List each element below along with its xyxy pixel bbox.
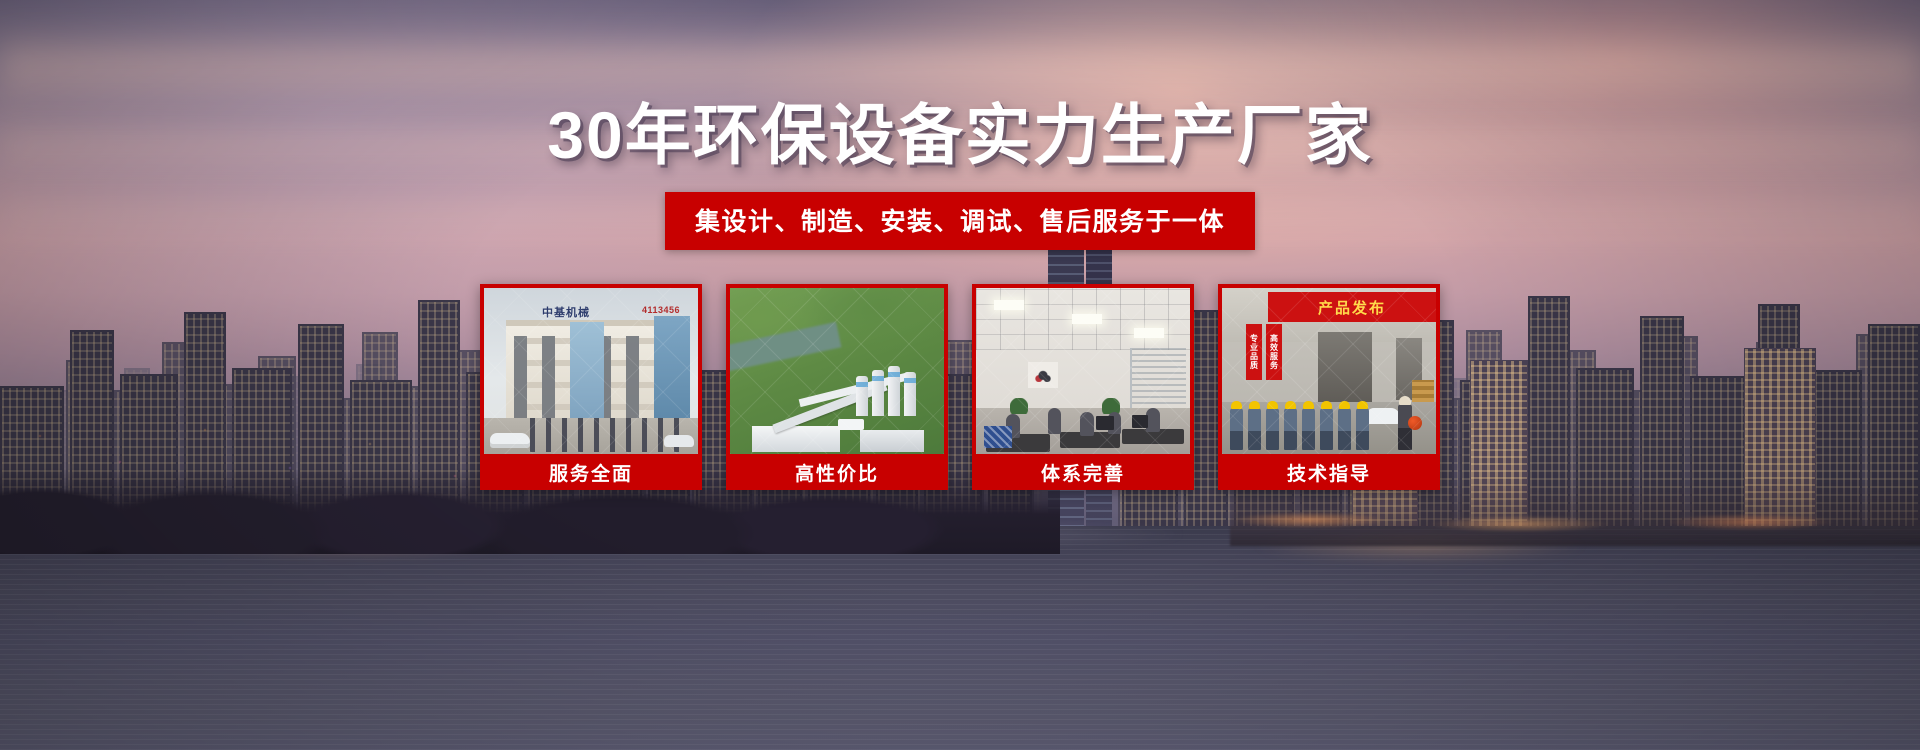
photo3-blue-bag bbox=[984, 426, 1012, 448]
feature-card-3-label: 体系完善 bbox=[976, 454, 1190, 490]
aerial-plant-photo bbox=[730, 288, 944, 454]
factory-workshop-photo: 产品发布 专业品质 高效服务 bbox=[1222, 288, 1436, 454]
photo4-worker-1 bbox=[1230, 408, 1243, 450]
photo4-worker-3 bbox=[1266, 408, 1279, 450]
photo3-window-blinds bbox=[1130, 348, 1186, 410]
photo2-silo-4 bbox=[856, 376, 868, 416]
hero-banner: 30年环保设备实力生产厂家 集设计、制造、安装、调试、售后服务于一体 中基机械 … bbox=[0, 0, 1920, 750]
photo3-plant-left bbox=[1010, 398, 1028, 414]
photo1-white-car bbox=[490, 433, 530, 448]
photo4-worker-4 bbox=[1284, 408, 1297, 450]
photo3-monitor-2 bbox=[1132, 415, 1148, 428]
feature-card-1-label: 服务全面 bbox=[484, 454, 698, 490]
photo4-vertical-banner-right: 高效服务 bbox=[1266, 324, 1282, 380]
photo4-doorway bbox=[1318, 332, 1372, 406]
photo4-vertical-banner-left: 专业品质 bbox=[1246, 324, 1262, 380]
photo3-light-panel-3 bbox=[1134, 328, 1164, 338]
photo3-person-5 bbox=[1146, 408, 1160, 432]
feature-card-2-label: 高性价比 bbox=[730, 454, 944, 490]
photo4-white-van bbox=[1366, 408, 1400, 424]
photo4-worker-5 bbox=[1302, 408, 1315, 450]
photo2-silo-3 bbox=[872, 370, 884, 416]
photo3-monitor-1 bbox=[1096, 416, 1114, 430]
photo3-light-panel-2 bbox=[1072, 314, 1102, 324]
hero-content: 30年环保设备实力生产厂家 集设计、制造、安装、调试、售后服务于一体 中基机械 … bbox=[0, 0, 1920, 750]
company-headquarters-photo: 中基机械 4113456 bbox=[484, 288, 698, 454]
photo3-light-panel-1 bbox=[994, 300, 1024, 310]
photo4-worker-7 bbox=[1338, 408, 1351, 450]
feature-card-row: 中基机械 4113456 服务全面 bbox=[480, 284, 1440, 490]
photo4-orange-helmet bbox=[1408, 416, 1422, 430]
photo4-red-banner: 产品发布 bbox=[1268, 292, 1436, 322]
feature-card-1[interactable]: 中基机械 4113456 服务全面 bbox=[480, 284, 702, 490]
photo3-wall-decal bbox=[1028, 362, 1058, 388]
feature-card-3[interactable]: 体系完善 bbox=[972, 284, 1194, 490]
feature-card-4[interactable]: 产品发布 专业品质 高效服务 bbox=[1218, 284, 1440, 490]
photo2-silo-1 bbox=[904, 372, 916, 416]
photo1-building-sign: 中基机械 bbox=[542, 304, 590, 320]
photo1-second-car bbox=[664, 435, 694, 447]
photo2-truck bbox=[838, 419, 864, 430]
photo1-atrium bbox=[570, 322, 604, 432]
photo4-worker-8 bbox=[1356, 408, 1369, 450]
photo2-plant-complex bbox=[752, 348, 930, 452]
photo2-silo-2 bbox=[888, 366, 900, 416]
photo4-worker-6 bbox=[1320, 408, 1333, 450]
feature-card-4-label: 技术指导 bbox=[1222, 454, 1436, 490]
subtitle-banner: 集设计、制造、安装、调试、售后服务于一体 bbox=[665, 192, 1255, 250]
photo3-person-2 bbox=[1048, 408, 1061, 434]
photo1-phone-number: 4113456 bbox=[642, 305, 680, 315]
page-title: 30年环保设备实力生产厂家 bbox=[0, 102, 1920, 168]
photo3-person-3 bbox=[1080, 412, 1094, 436]
feature-card-2[interactable]: 高性价比 bbox=[726, 284, 948, 490]
office-interior-photo bbox=[976, 288, 1190, 454]
photo2-shed-right bbox=[860, 430, 924, 452]
photo2-shed-left bbox=[752, 426, 840, 452]
photo1-glass-wing bbox=[654, 316, 690, 428]
photo4-worker-2 bbox=[1248, 408, 1261, 450]
